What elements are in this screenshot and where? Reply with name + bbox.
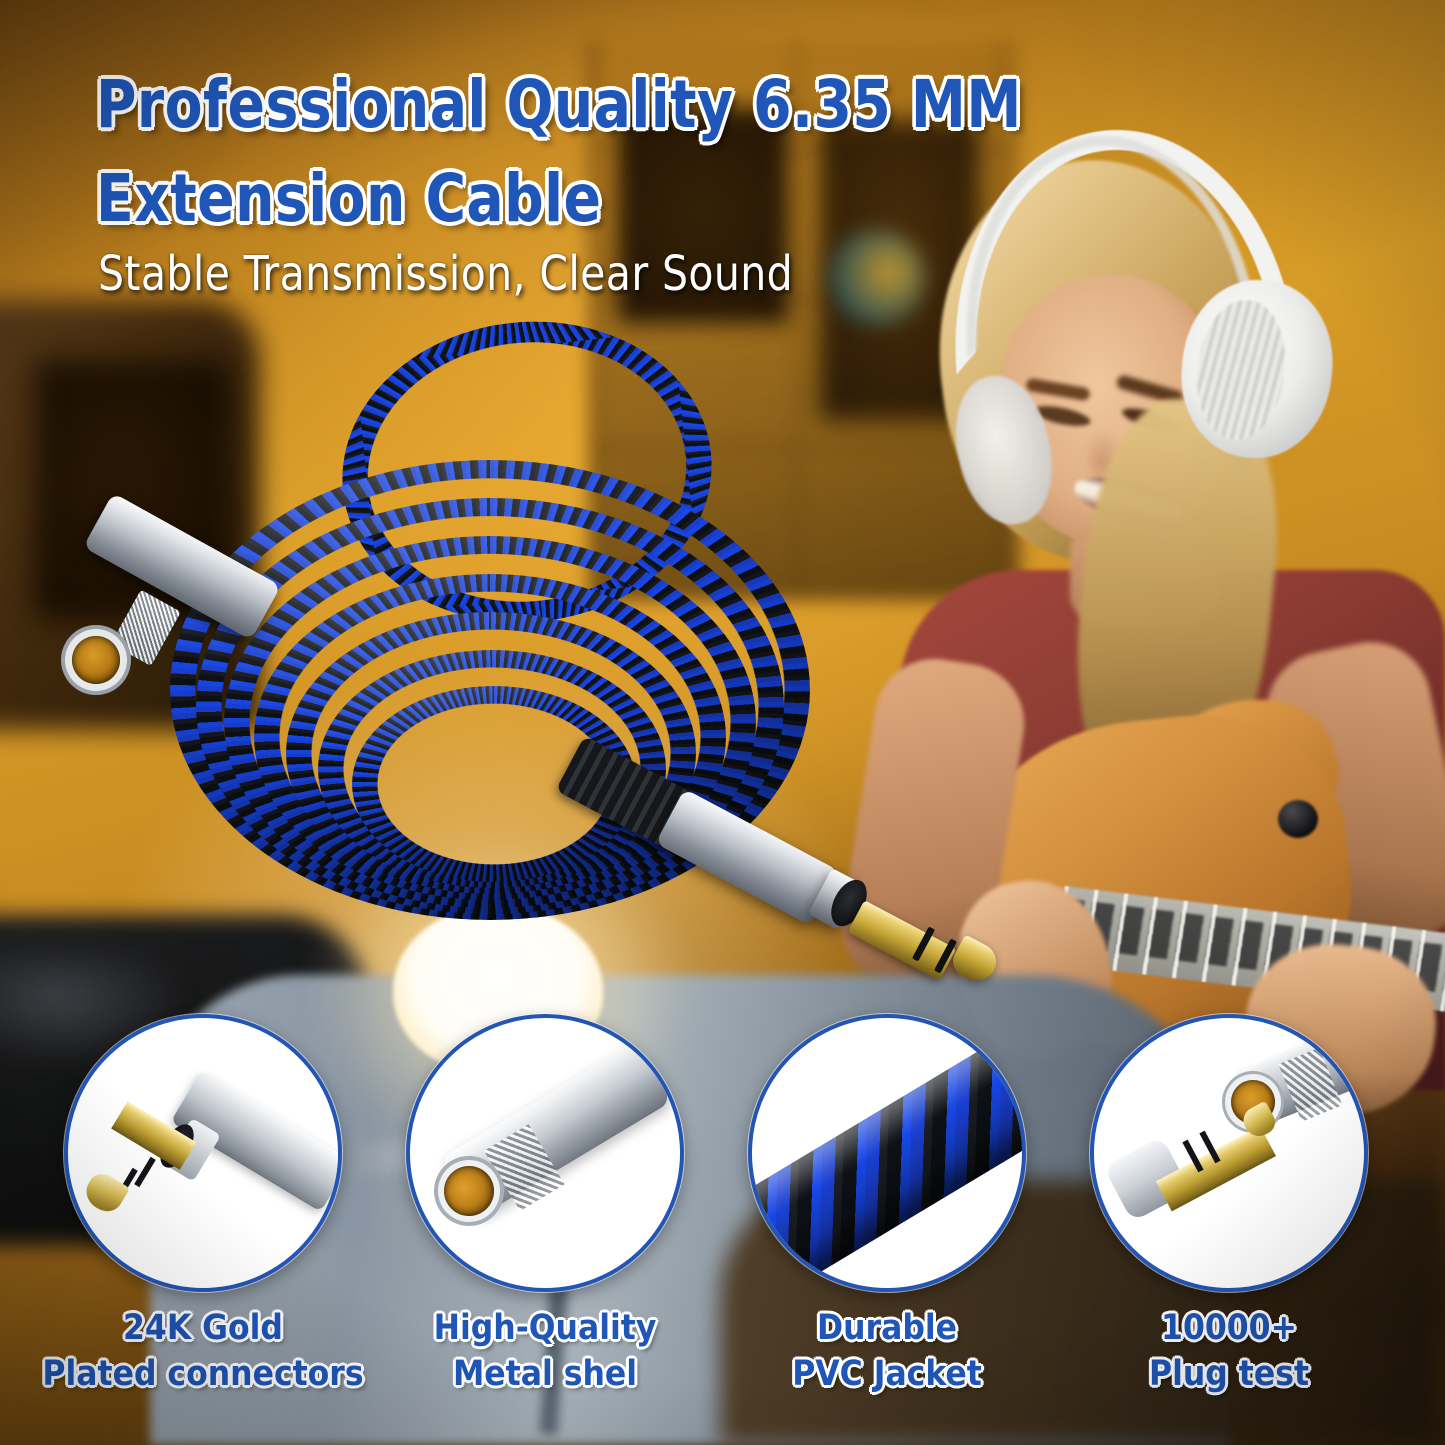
- feature-caption-1: 24K Gold Plated connectors: [42, 1306, 363, 1397]
- caption-4-line-1: 10000+: [1149, 1306, 1309, 1352]
- feature-circle-4: [1090, 1014, 1368, 1292]
- plug-and-jack-icon: [1094, 1018, 1364, 1288]
- caption-1-line-2: Plated connectors: [42, 1352, 363, 1398]
- feature-caption-3: Durable PVC Jacket: [792, 1306, 982, 1397]
- plug-insulator-ring-1: [134, 1157, 156, 1188]
- feature-plug-test: 10000+ Plug test: [1090, 1014, 1368, 1292]
- feature-pvc-jacket: Durable PVC Jacket: [748, 1014, 1026, 1292]
- feature-gold-plated-connectors: 24K Gold Plated connectors: [64, 1014, 342, 1292]
- headline-line-2: Extension Cable: [96, 152, 961, 246]
- product-infographic: Professional Quality 6.35 MM Extension C…: [0, 0, 1445, 1445]
- feature-metal-shell: High-Quality Metal shel: [406, 1014, 684, 1292]
- cable-coil: [130, 330, 830, 980]
- female-jack-opening: [72, 636, 120, 684]
- braided-jacket-icon: [752, 1018, 1022, 1288]
- caption-3-line-2: PVC Jacket: [792, 1352, 982, 1398]
- subheadline: Stable Transmission, Clear Sound: [98, 246, 793, 302]
- headline: Professional Quality 6.35 MM Extension C…: [96, 58, 961, 245]
- male-trs-plug-icon: [68, 1018, 338, 1288]
- guitar-knob: [1278, 800, 1318, 838]
- female-jack-barrel-icon: [410, 1018, 680, 1288]
- feature-circle-2: [406, 1014, 684, 1292]
- headline-line-1: Professional Quality 6.35 MM: [96, 66, 1022, 143]
- caption-2-line-2: Metal shel: [434, 1352, 657, 1398]
- feature-caption-4: 10000+ Plug test: [1149, 1306, 1309, 1397]
- feature-caption-2: High-Quality Metal shel: [434, 1306, 657, 1397]
- caption-2-line-1: High-Quality: [434, 1306, 657, 1352]
- caption-3-line-1: Durable: [792, 1306, 982, 1352]
- braid-band: [748, 1014, 1026, 1292]
- caption-4-line-2: Plug test: [1149, 1352, 1309, 1398]
- feature-circle-3: [748, 1014, 1026, 1292]
- feature-circle-1: [64, 1014, 342, 1292]
- plug-gold-tip: [80, 1169, 130, 1218]
- caption-1-line-1: 24K Gold: [42, 1306, 363, 1352]
